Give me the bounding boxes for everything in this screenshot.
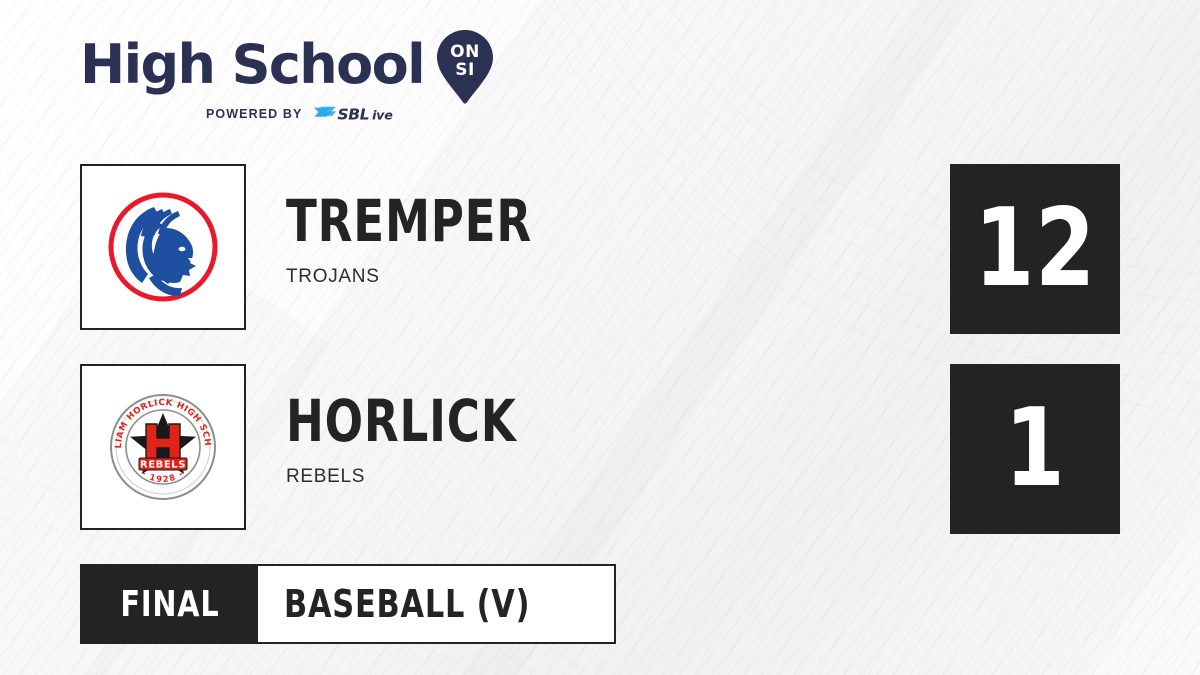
powered-by-label: POWERED BY [206,107,302,121]
team-logo-card: WILLIAM HORLICK HIGH SCHOOL - 1928 - REB… [80,364,246,530]
team-logo-card [80,164,246,330]
team-row: WILLIAM HORLICK HIGH SCHOOL - 1928 - REB… [80,364,1120,534]
svg-text:SI: SI [455,60,475,80]
team-score: 12 [974,195,1096,303]
team-info: HORLICK REBELS [286,392,926,488]
svg-text:ive: ive [373,107,394,122]
horlick-rebels-seal-logo-icon: WILLIAM HORLICK HIGH SCHOOL - 1928 - REB… [104,388,222,506]
game-status-bar: FINAL BASEBALL (V) [80,564,616,644]
team-name: HORLICK [286,392,785,450]
svg-text:ON: ON [450,42,480,62]
status-badge-label: FINAL [120,584,219,625]
brand-wordmark: High School [80,37,424,93]
team-score-box: 1 [950,364,1120,534]
trojan-helmet-logo-icon [104,188,222,306]
brand-row: High School ON SI [80,33,550,97]
svg-text:SBL: SBL [338,105,370,123]
site-logo[interactable]: High School ON SI POWERED BY SBL ive [80,33,550,133]
sblive-logo: SBL ive [311,104,415,124]
team-score: 1 [1005,395,1066,503]
on-si-pin-icon: ON SI [434,29,496,105]
sport-label-container: BASEBALL (V) [258,566,614,642]
team-info: TREMPER TROJANS [286,192,926,288]
scoreboard-graphic: High School ON SI POWERED BY SBL ive [0,0,1200,675]
team-mascot: TROJANS [286,266,926,288]
sport-label: BASEBALL (V) [284,582,530,626]
team-name: TREMPER [286,192,785,250]
powered-by-row: POWERED BY SBL ive [206,104,550,124]
team-mascot: REBELS [286,466,926,488]
status-badge: FINAL [82,566,258,642]
svg-text:REBELS: REBELS [140,460,186,471]
team-row: TREMPER TROJANS 12 [80,164,1120,334]
team-score-box: 12 [950,164,1120,334]
